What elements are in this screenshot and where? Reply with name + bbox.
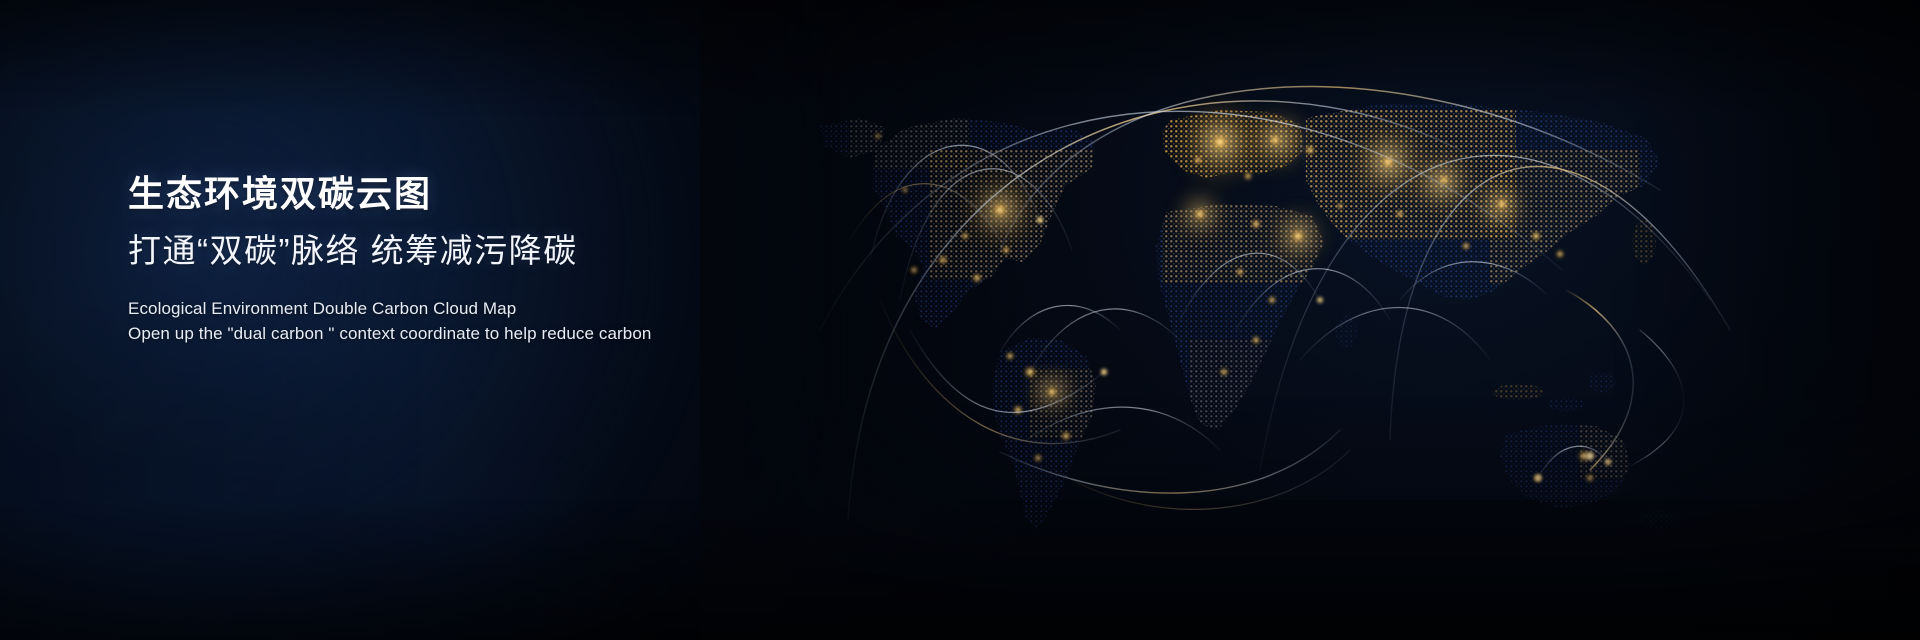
page-subtitle: 打通“双碳”脉络 统筹减污降碳: [128, 234, 888, 267]
english-subtitle-line-1: Ecological Environment Double Carbon Clo…: [128, 297, 888, 322]
hero-banner: 生态环境双碳云图 打通“双碳”脉络 统筹减污降碳 Ecological Envi…: [0, 0, 1920, 640]
english-subtitle-group: Ecological Environment Double Carbon Clo…: [128, 297, 888, 346]
hero-copy-block: 生态环境双碳云图 打通“双碳”脉络 统筹减污降碳 Ecological Envi…: [128, 176, 888, 346]
english-subtitle-line-2: Open up the "dual carbon " context coord…: [128, 322, 888, 347]
page-title: 生态环境双碳云图: [128, 176, 888, 212]
